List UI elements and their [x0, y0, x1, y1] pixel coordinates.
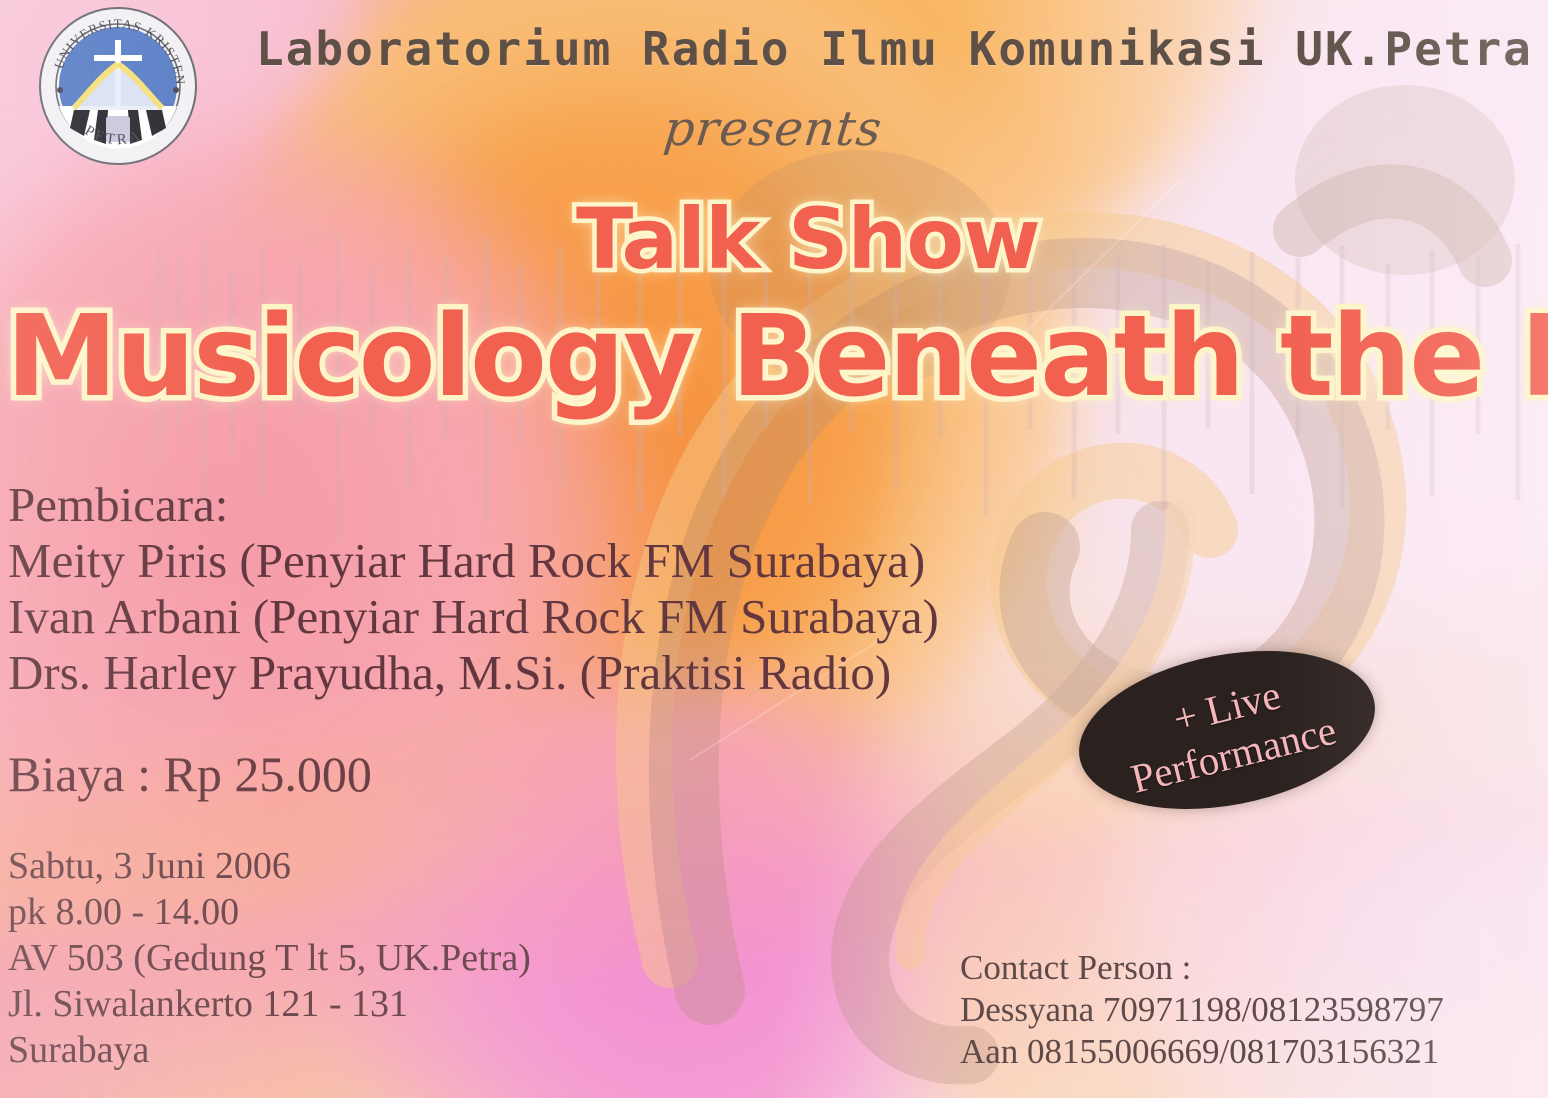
event-type-title: Talk Show	[576, 190, 1040, 288]
event-street: Jl. Siwalankerto 121 - 131	[8, 981, 531, 1027]
organizer-header: Laboratorium Radio Ilmu Komunikasi UK.Pe…	[256, 22, 1533, 76]
fee-text: Biaya : Rp 25.000	[8, 745, 372, 803]
event-date: Sabtu, 3 Juni 2006	[8, 843, 531, 889]
speaker-item: Ivan Arbani (Penyiar Hard Rock FM Suraba…	[8, 589, 939, 645]
uk-petra-logo-icon: UNIVERSITAS KRISTEN PETRA	[38, 6, 198, 166]
contact-entry: Aan 08155006669/081703156321	[960, 1031, 1444, 1073]
speakers-block: Pembicara: Meity Piris (Penyiar Hard Roc…	[8, 477, 939, 701]
speaker-item: Drs. Harley Prayudha, M.Si. (Praktisi Ra…	[8, 645, 939, 701]
contact-label: Contact Person :	[960, 947, 1444, 989]
speakers-label: Pembicara:	[8, 477, 939, 533]
presents-label: presents	[661, 101, 885, 157]
event-time: pk 8.00 - 14.00	[8, 889, 531, 935]
speaker-item: Meity Piris (Penyiar Hard Rock FM Suraba…	[8, 533, 939, 589]
when-where-block: Sabtu, 3 Juni 2006 pk 8.00 - 14.00 AV 50…	[8, 843, 531, 1073]
contact-block: Contact Person : Dessyana 70971198/08123…	[960, 947, 1444, 1073]
poster-canvas: UNIVERSITAS KRISTEN PETRA Laboratorium R…	[0, 0, 1548, 1098]
event-city: Surabaya	[8, 1027, 531, 1073]
contact-entry: Dessyana 70971198/08123598797	[960, 989, 1444, 1031]
event-main-title: Musicology Beneath the Frequency	[6, 292, 1548, 422]
event-room: AV 503 (Gedung T lt 5, UK.Petra)	[8, 935, 531, 981]
